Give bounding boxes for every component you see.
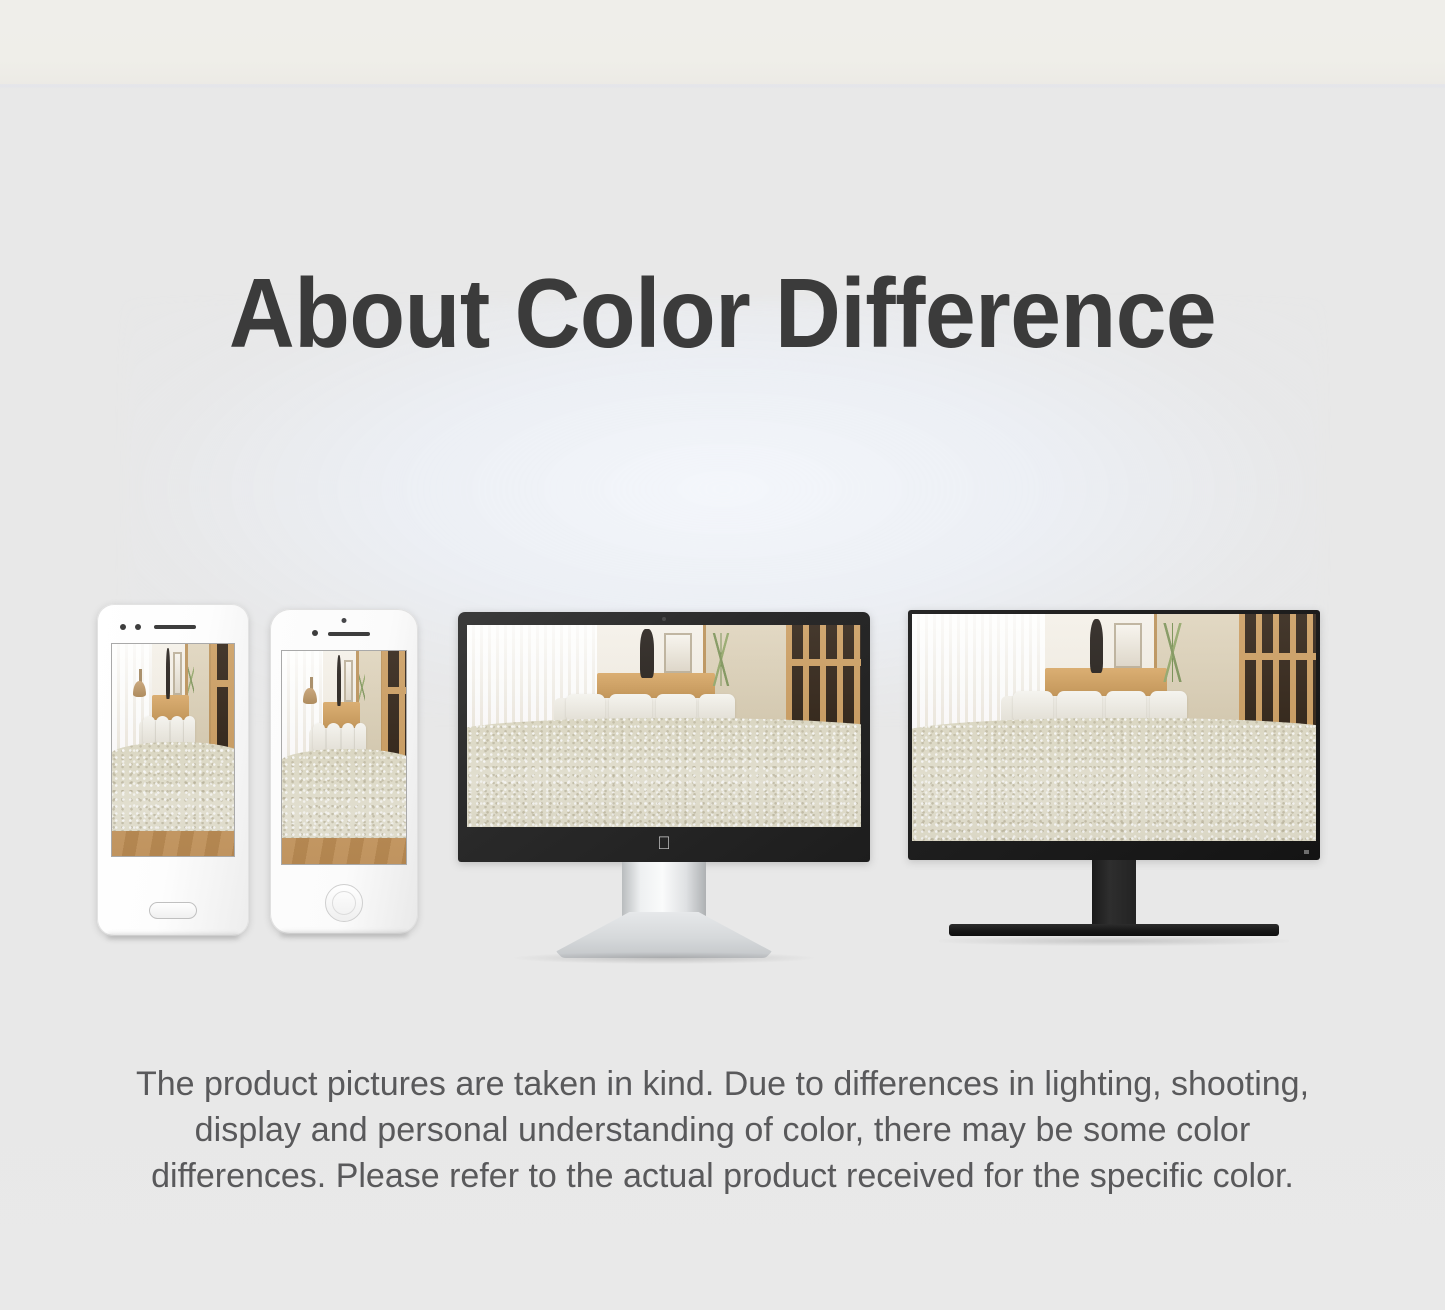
page-root: About Color Difference xyxy=(0,0,1445,1310)
device-display-apple:  xyxy=(458,612,870,962)
phone-android-screen xyxy=(111,643,235,857)
apple-logo-icon:  xyxy=(656,834,673,853)
background-band-edge xyxy=(0,84,1445,89)
monitor-bezel:  xyxy=(458,612,870,862)
background-top-band xyxy=(0,0,1445,86)
device-display-black xyxy=(908,610,1320,960)
device-shadow xyxy=(280,932,408,937)
monitor-stand-neck xyxy=(622,862,706,920)
front-camera-icon xyxy=(120,624,146,630)
page-title: About Color Difference xyxy=(51,262,1395,366)
earpiece-speaker-icon xyxy=(328,632,370,636)
caption-line-1: The product pictures are taken in kind. … xyxy=(43,1062,1403,1108)
apple-display-screen xyxy=(467,625,861,827)
power-led-icon xyxy=(1304,850,1309,854)
home-button[interactable] xyxy=(325,884,363,922)
caption-line-2: display and personal understanding of co… xyxy=(43,1108,1403,1154)
phone-iphone-screen xyxy=(281,650,407,865)
black-monitor-screen xyxy=(912,614,1316,841)
monitor-stand-neck xyxy=(1092,860,1136,930)
device-shadow xyxy=(107,934,239,939)
device-shadow xyxy=(514,952,814,964)
front-camera-icon xyxy=(312,630,318,636)
room-scene-artwork xyxy=(467,625,861,827)
monitor-stand-base xyxy=(949,924,1279,936)
room-scene-artwork xyxy=(282,651,406,864)
earpiece-speaker-icon xyxy=(154,625,196,629)
home-button[interactable] xyxy=(149,902,197,919)
webcam-icon xyxy=(662,617,666,621)
proximity-sensor-icon xyxy=(342,618,347,623)
device-showcase:  xyxy=(0,600,1445,980)
room-scene-artwork xyxy=(112,644,234,856)
monitor-bezel xyxy=(908,610,1320,860)
device-phone-android xyxy=(97,604,249,936)
room-scene-artwork xyxy=(912,614,1316,841)
device-phone-iphone xyxy=(270,609,418,934)
device-shadow xyxy=(939,936,1289,946)
disclaimer-caption: The product pictures are taken in kind. … xyxy=(43,1062,1403,1200)
caption-line-3: differences. Please refer to the actual … xyxy=(43,1154,1403,1200)
